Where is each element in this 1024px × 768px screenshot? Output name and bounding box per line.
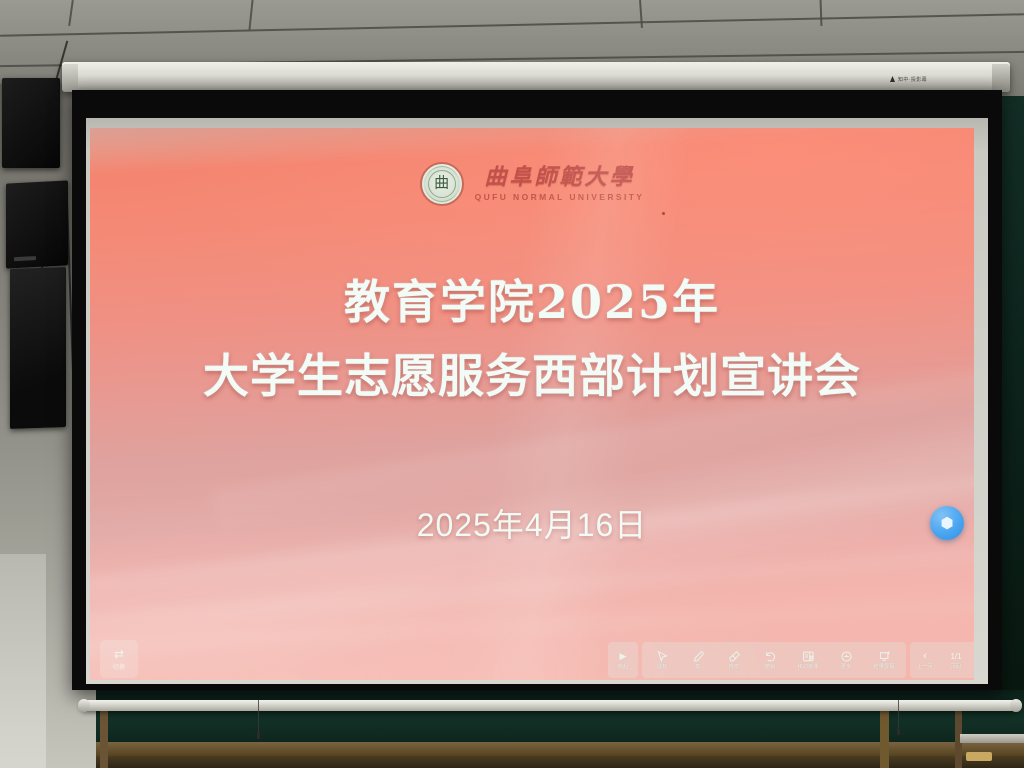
toolbar-label-more: 更多 [841,665,852,670]
toolbar-tool-eraser[interactable]: 橡皮 [716,642,752,678]
projector-screen-casing [62,62,1010,92]
weight-bar-cap-right [1010,699,1022,712]
chalk-tray [960,734,1024,743]
toolbar-tool-pen[interactable]: 笔 [680,642,716,678]
seewo-assistant-button[interactable]: ⬢ [930,506,964,540]
classroom-photo-scene: 知中·投影幕 曲 曲阜師範大學 QUFU NORMAL UNIVERSITY 教… [0,0,1024,768]
slide-ribbon-2 [90,543,974,636]
slide-title-line-1: 教育学院2025年 [90,278,974,328]
toolbar-label-pen: 笔 [695,665,700,670]
smart-note-icon [878,649,891,664]
projected-slide: 曲 曲阜師範大學 QUFU NORMAL UNIVERSITY 教育学院2025… [90,128,974,680]
page-number: 1/1 [950,649,961,664]
seewo-annotation-toolbar[interactable]: ▶ 收起 鼠标 [608,642,974,678]
wall-speaker-top [2,78,60,168]
university-name-en: QUFU NORMAL UNIVERSITY [475,192,645,202]
toolbar-collapse-group[interactable]: ▶ 收起 [608,642,638,678]
toolbar-label-undo: 撤销 [765,665,776,670]
screen-pull-cord-left [258,700,259,734]
university-wordmark: 曲阜師範大學 QUFU NORMAL UNIVERSITY [475,166,645,202]
chalk-eraser [966,752,992,761]
casing-end-cap-right [992,64,1010,91]
page-prev-label: 上一页 [917,665,933,670]
casing-end-cap-left [62,64,78,91]
page-indicator-label: 页码 [951,665,962,670]
pull-cord-weight-left [257,732,260,739]
wall-panel [0,554,46,768]
screen-weight-bar [80,700,1020,711]
slide-title-block: 教育学院2025年 大学生志愿服务西部计划宣讲会 [90,278,974,401]
chevron-left-icon: ‹ [923,649,927,664]
screen-pull-cord-right [898,700,899,730]
pull-cord-weight-right [897,728,900,735]
more-icon [840,649,853,664]
toolbar-label-select: 鼠标 [657,665,668,670]
eraser-icon [728,649,741,664]
cursor-icon [656,649,669,664]
page-indicator[interactable]: 1/1 页码 [938,642,974,678]
casing-label: 知中·投影幕 [898,76,927,83]
page-prev-button[interactable]: ‹ 上一页 [912,642,938,678]
toolbar-tool-undo[interactable]: 撤销 [752,642,788,678]
undo-icon [764,649,777,664]
dust-speck [662,212,665,215]
toolbar-tool-move-play[interactable]: 移动授课 [788,642,828,678]
wall-speaker-mid [6,180,68,268]
university-logo-lockup: 曲 曲阜師範大學 QUFU NORMAL UNIVERSITY [90,162,974,206]
switch-label: 切换 [113,662,126,671]
move-play-icon [802,649,815,664]
toolbar-pager-group[interactable]: ‹ 上一页 1/1 页码 › 下一页 [910,642,974,678]
university-name-cn: 曲阜師範大學 [484,166,634,189]
toolbar-label-eraser: 橡皮 [729,665,740,670]
play-triangle-icon: ▶ [620,649,627,664]
assistant-glyph: ⬢ [940,516,953,531]
university-crest-icon: 曲 [420,162,464,206]
slide-title-line-2: 大学生志愿服务西部计划宣讲会 [90,352,974,402]
pen-icon [692,649,705,664]
crest-glyph: 曲 [434,176,449,191]
speaker-badge [14,256,36,261]
toolbar-tool-more[interactable]: 更多 [828,642,864,678]
switch-mode-widget[interactable]: ⇄ 切换 [100,640,138,678]
toolbar-tool-smart-note[interactable]: 结果屏幕 [864,642,904,678]
toolbar-collapse-label: 收起 [618,665,629,670]
toolbar-collapse-button[interactable]: ▶ 收起 [610,642,636,678]
toolbar-tools-group[interactable]: 鼠标 笔 [642,642,906,678]
toolbar-tool-select[interactable]: 鼠标 [644,642,680,678]
wall-speaker-bottom [10,267,66,429]
switch-icon: ⇄ [114,648,124,660]
weight-bar-cap-left [78,699,90,712]
toolbar-label-move-play: 移动授课 [797,665,818,670]
toolbar-label-smart-note: 结果屏幕 [873,665,894,670]
slide-date: 2025年4月16日 [90,500,974,546]
